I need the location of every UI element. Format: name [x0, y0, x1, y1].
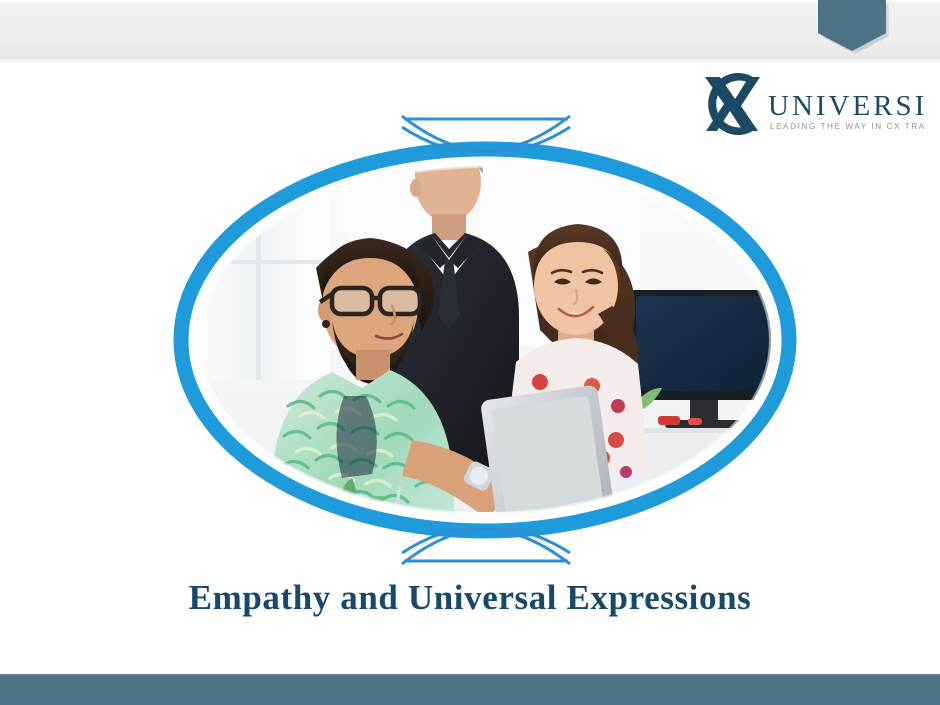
oval-photo-content [160, 110, 810, 580]
bottom-footer-highlight [0, 674, 940, 676]
top-header-band [0, 0, 940, 57]
top-header-highlight [0, 0, 940, 2]
top-header-shadow [0, 57, 940, 64]
slide-canvas: UNIVERSITY LEADING THE WAY IN CX TRAININ… [0, 0, 940, 705]
photo-patterned-mug [636, 514, 685, 558]
bottom-footer-band [0, 674, 940, 705]
slide-title: Empathy and Universal Expressions [0, 575, 940, 621]
oval-photo-frame [160, 110, 810, 580]
